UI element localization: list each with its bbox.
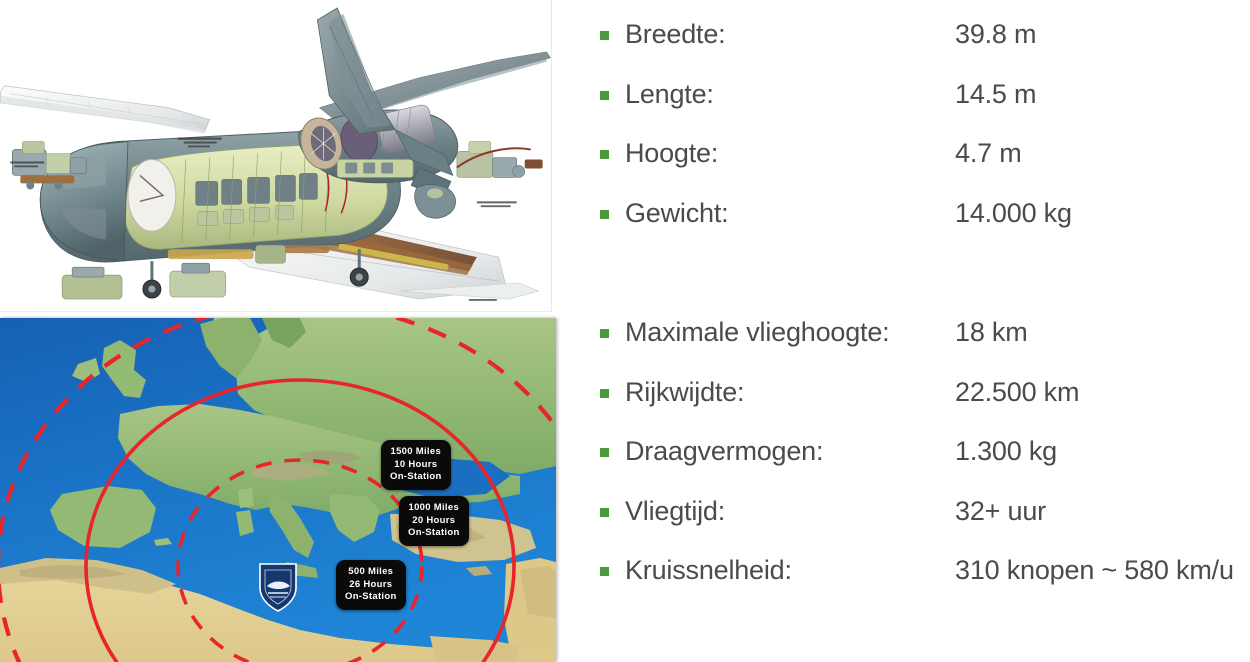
bullet-square-icon: [600, 210, 609, 219]
left-media-column: 1500 Miles 10 Hours On-Station 1000 Mile…: [0, 0, 558, 662]
map-callout-1000-miles: 1000 Miles 20 Hours On-Station: [399, 496, 469, 546]
callout-status: On-Station: [390, 471, 442, 484]
bullet-square-icon: [600, 448, 609, 457]
spec-value: 32+ uur: [955, 496, 1046, 527]
aircraft-cutaway-image: [0, 0, 552, 312]
spec-row-kruissnelheid: Kruissnelheid: 310 knopen ~ 580 km/u: [600, 550, 792, 590]
callout-status: On-Station: [408, 527, 460, 540]
spec-row-maximale-vlieghoogte: Maximale vlieghoogte: 18 km: [600, 312, 889, 352]
spec-label: Draagvermogen:: [625, 436, 823, 467]
bullet-square-icon: [600, 91, 609, 100]
map-callout-1500-miles: 1500 Miles 10 Hours On-Station: [381, 440, 451, 490]
map-callout-500-miles: 500 Miles 26 Hours On-Station: [336, 560, 406, 610]
bullet-square-icon: [600, 31, 609, 40]
bullet-square-icon: [600, 508, 609, 517]
spec-label: Lengte:: [625, 79, 714, 110]
spec-value: 39.8 m: [955, 19, 1036, 50]
spec-label: Gewicht:: [625, 198, 728, 229]
coverage-range-map-image: 1500 Miles 10 Hours On-Station 1000 Mile…: [0, 318, 556, 662]
spec-label: Maximale vlieghoogte:: [625, 317, 889, 348]
spec-row-lengte: Lengte: 14.5 m: [600, 74, 714, 114]
callout-endurance: 10 Hours: [390, 459, 442, 472]
spec-value: 310 knopen ~ 580 km/u: [955, 555, 1234, 586]
spec-row-rijkwijdte: Rijkwijdte: 22.500 km: [600, 372, 744, 412]
spec-value: 1.300 kg: [955, 436, 1057, 467]
specification-list: Breedte: 39.8 m Lengte: 14.5 m Hoogte: 4…: [600, 0, 1250, 662]
spec-label: Hoogte:: [625, 138, 718, 169]
callout-distance: 500 Miles: [345, 566, 397, 579]
spec-row-hoogte: Hoogte: 4.7 m: [600, 133, 718, 173]
callout-status: On-Station: [345, 591, 397, 604]
spec-value: 22.500 km: [955, 377, 1079, 408]
spec-row-gewicht: Gewicht: 14.000 kg: [600, 193, 728, 233]
callout-endurance: 20 Hours: [408, 515, 460, 528]
spec-row-breedte: Breedte: 39.8 m: [600, 14, 725, 54]
callout-distance: 1000 Miles: [408, 502, 460, 515]
spec-row-draagvermogen: Draagvermogen: 1.300 kg: [600, 431, 823, 471]
spec-row-vliegtijd: Vliegtijd: 32+ uur: [600, 491, 725, 531]
spec-value: 14.5 m: [955, 79, 1036, 110]
bullet-square-icon: [600, 567, 609, 576]
spec-value: 18 km: [955, 317, 1028, 348]
spec-value: 14.000 kg: [955, 198, 1072, 229]
slide-canvas: 1500 Miles 10 Hours On-Station 1000 Mile…: [0, 0, 1250, 662]
callout-endurance: 26 Hours: [345, 579, 397, 592]
callout-distance: 1500 Miles: [390, 446, 442, 459]
spec-value: 4.7 m: [955, 138, 1022, 169]
spec-label: Breedte:: [625, 19, 725, 50]
bullet-square-icon: [600, 389, 609, 398]
spec-label: Kruissnelheid:: [625, 555, 792, 586]
spec-label: Rijkwijdte:: [625, 377, 744, 408]
spec-label: Vliegtijd:: [625, 496, 725, 527]
bullet-square-icon: [600, 150, 609, 159]
bullet-square-icon: [600, 329, 609, 338]
